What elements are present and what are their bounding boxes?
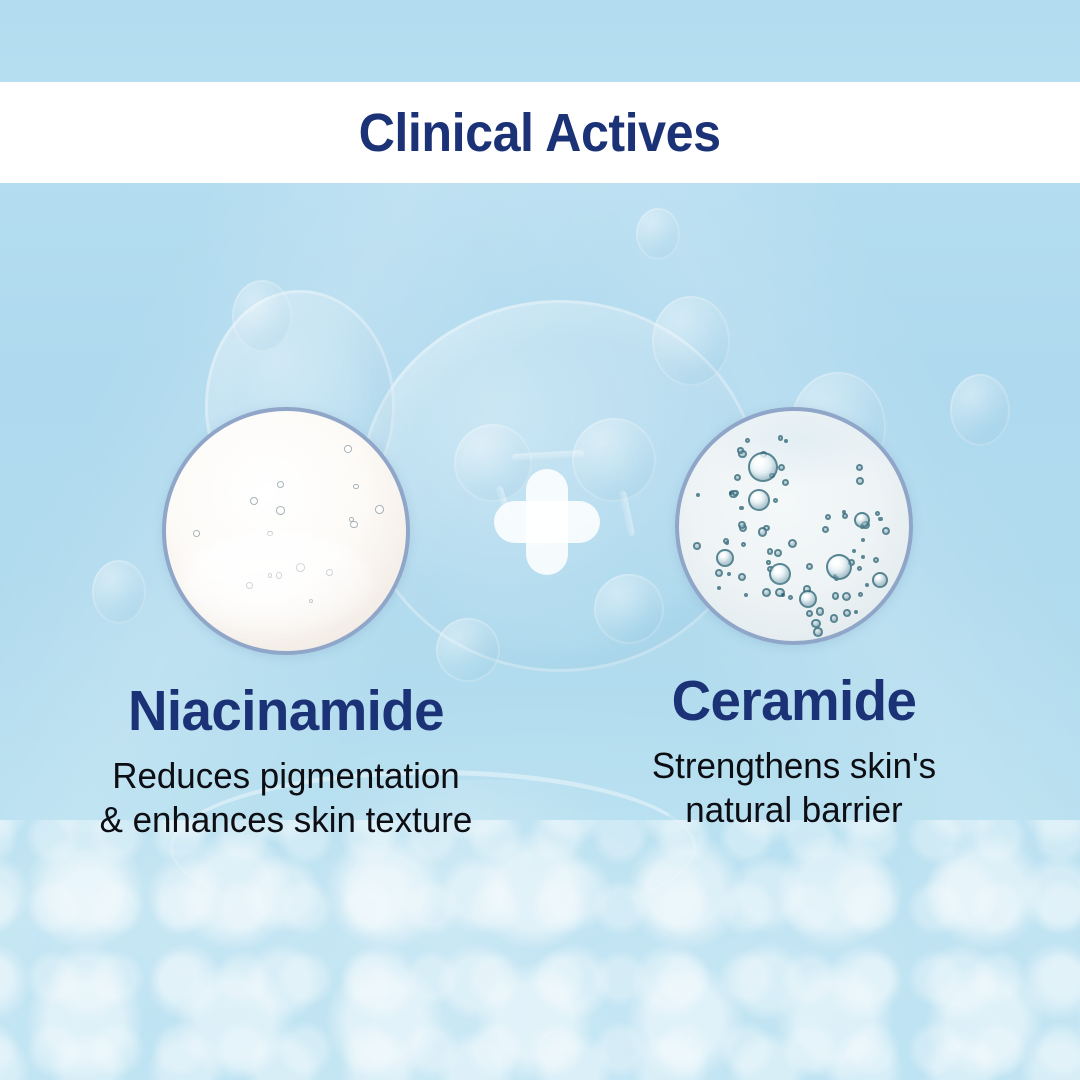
gel-bubble [276,572,283,579]
description-line: natural barrier [542,788,1046,832]
gel-bubble [778,435,783,440]
description-line: & enhances skin texture [34,798,538,842]
gel-bubble [296,563,305,572]
gel-bubble-large [769,563,791,585]
gel-bubble [878,517,883,522]
gel-bubble [860,524,864,528]
gel-bubble [806,610,813,617]
gel-bubble [843,609,851,617]
gel-bubble [769,473,774,478]
gel-bubble [715,569,723,577]
gel-bubble [250,497,258,505]
gel-bubble [822,526,829,533]
gel-bubble [737,447,743,453]
gel-bubble [766,560,770,564]
ceramide-gel-swatch [675,407,913,645]
gel-bubble [775,588,784,597]
gel-bubble [745,438,750,443]
gel-bubble [276,506,285,515]
gel-bubble-large [748,452,778,482]
gel-bubble-large [716,549,734,567]
gel-bubble [861,521,870,530]
gel-bubble [693,542,701,550]
gel-bubble [858,592,863,597]
ingredient-name-ceramide: Ceramide [544,673,1043,730]
ingredient-description-ceramide: Strengthens skin's natural barrier [542,744,1046,832]
gel-bubble [832,592,839,599]
ceramide-bubbles [679,411,909,641]
ingredient-card-niacinamide: Niacinamide Reduces pigmentation & enhan… [26,183,546,842]
ingredient-name-niacinamide: Niacinamide [36,683,535,740]
gel-bubble [852,549,856,553]
gel-bubble [758,527,767,536]
plus-icon [494,469,600,575]
gel-bubble [842,513,848,519]
gel-bubble [267,531,272,536]
gel-bubble [873,557,879,563]
gel-bubble [696,493,700,497]
ingredient-card-ceramide: Ceramide Strengthens skin's natural barr… [534,183,1054,832]
gel-bubble [762,588,771,597]
gel-bubble [774,549,782,557]
page-title: Clinical Actives [359,102,721,164]
gel-bubble [854,610,858,614]
gel-bubble [744,593,748,597]
gel-bubble-large [799,590,817,608]
gel-bubble [739,506,744,511]
gel-bubble [848,559,855,566]
gel-bubble [813,627,823,637]
gel-bubble [788,539,798,549]
gel-bubble [268,573,273,578]
top-blue-strip [0,0,1080,82]
gel-bubble-large [826,554,852,580]
gel-bubble [811,619,821,629]
gel-bubble [781,593,785,597]
niacinamide-bubbles [166,411,406,651]
gel-bubble [760,451,767,458]
gel-bubble [882,527,890,535]
gel-bubble [834,576,839,581]
gel-bubble [773,498,778,503]
gel-bubble [729,491,733,495]
gel-bubble-large [872,572,888,588]
description-line: Strengthens skin's [542,744,1046,788]
gel-bubble [246,582,253,589]
gel-bubble [857,566,862,571]
gel-bubble [729,490,738,499]
gel-bubble [309,599,313,603]
plus-icon-horizontal-arm [494,501,600,543]
gel-bubble [734,474,741,481]
gel-bubble [725,541,729,545]
gel-bubble [856,477,864,485]
gel-bubble [763,525,769,531]
gel-bubble [350,521,358,529]
ingredients-row: Niacinamide Reduces pigmentation & enhan… [0,183,1080,1080]
gel-bubble [741,542,746,547]
gel-bubble [803,585,812,594]
gel-bubble [732,490,739,497]
gel-bubble [782,479,789,486]
gel-bubble [861,538,865,542]
gel-bubble [767,548,773,554]
gel-bubble [767,566,774,573]
gel-bubble [856,464,863,471]
gel-bubble [326,569,333,576]
gel-bubble [842,510,846,514]
gel-bubble [738,450,746,458]
niacinamide-gel-swatch [162,407,410,655]
product-ingredient-infographic: Clinical Actives Niacinamide Reduces pig… [0,0,1080,1080]
gel-bubble [865,583,869,587]
ingredient-description-niacinamide: Reduces pigmentation & enhances skin tex… [34,754,538,842]
gel-bubble [875,511,880,516]
gel-bubble [738,521,746,529]
gel-bubble [861,555,865,559]
gel-bubble [830,614,838,622]
gel-bubble [349,517,354,522]
gel-bubble [193,530,200,537]
gel-bubble [788,595,794,601]
gel-bubble [738,573,747,582]
gel-bubble [784,439,788,443]
gel-bubble [344,445,351,452]
gel-bubble [739,524,748,533]
gel-bubble [842,592,851,601]
gel-bubble-large [854,512,870,528]
gel-bubble [717,586,721,590]
gel-bubble [277,481,284,488]
gel-bubble [778,464,785,471]
gel-bubble [806,563,813,570]
description-line: Reduces pigmentation [34,754,538,798]
gel-bubble [825,514,831,520]
gel-bubble [727,572,731,576]
gel-bubble [353,484,359,490]
gel-bubble [816,607,825,616]
gel-bubble [375,505,384,514]
title-band: Clinical Actives [0,82,1080,183]
gel-bubble [723,538,729,544]
gel-bubble-large [748,489,770,511]
gel-bubble [833,574,837,578]
